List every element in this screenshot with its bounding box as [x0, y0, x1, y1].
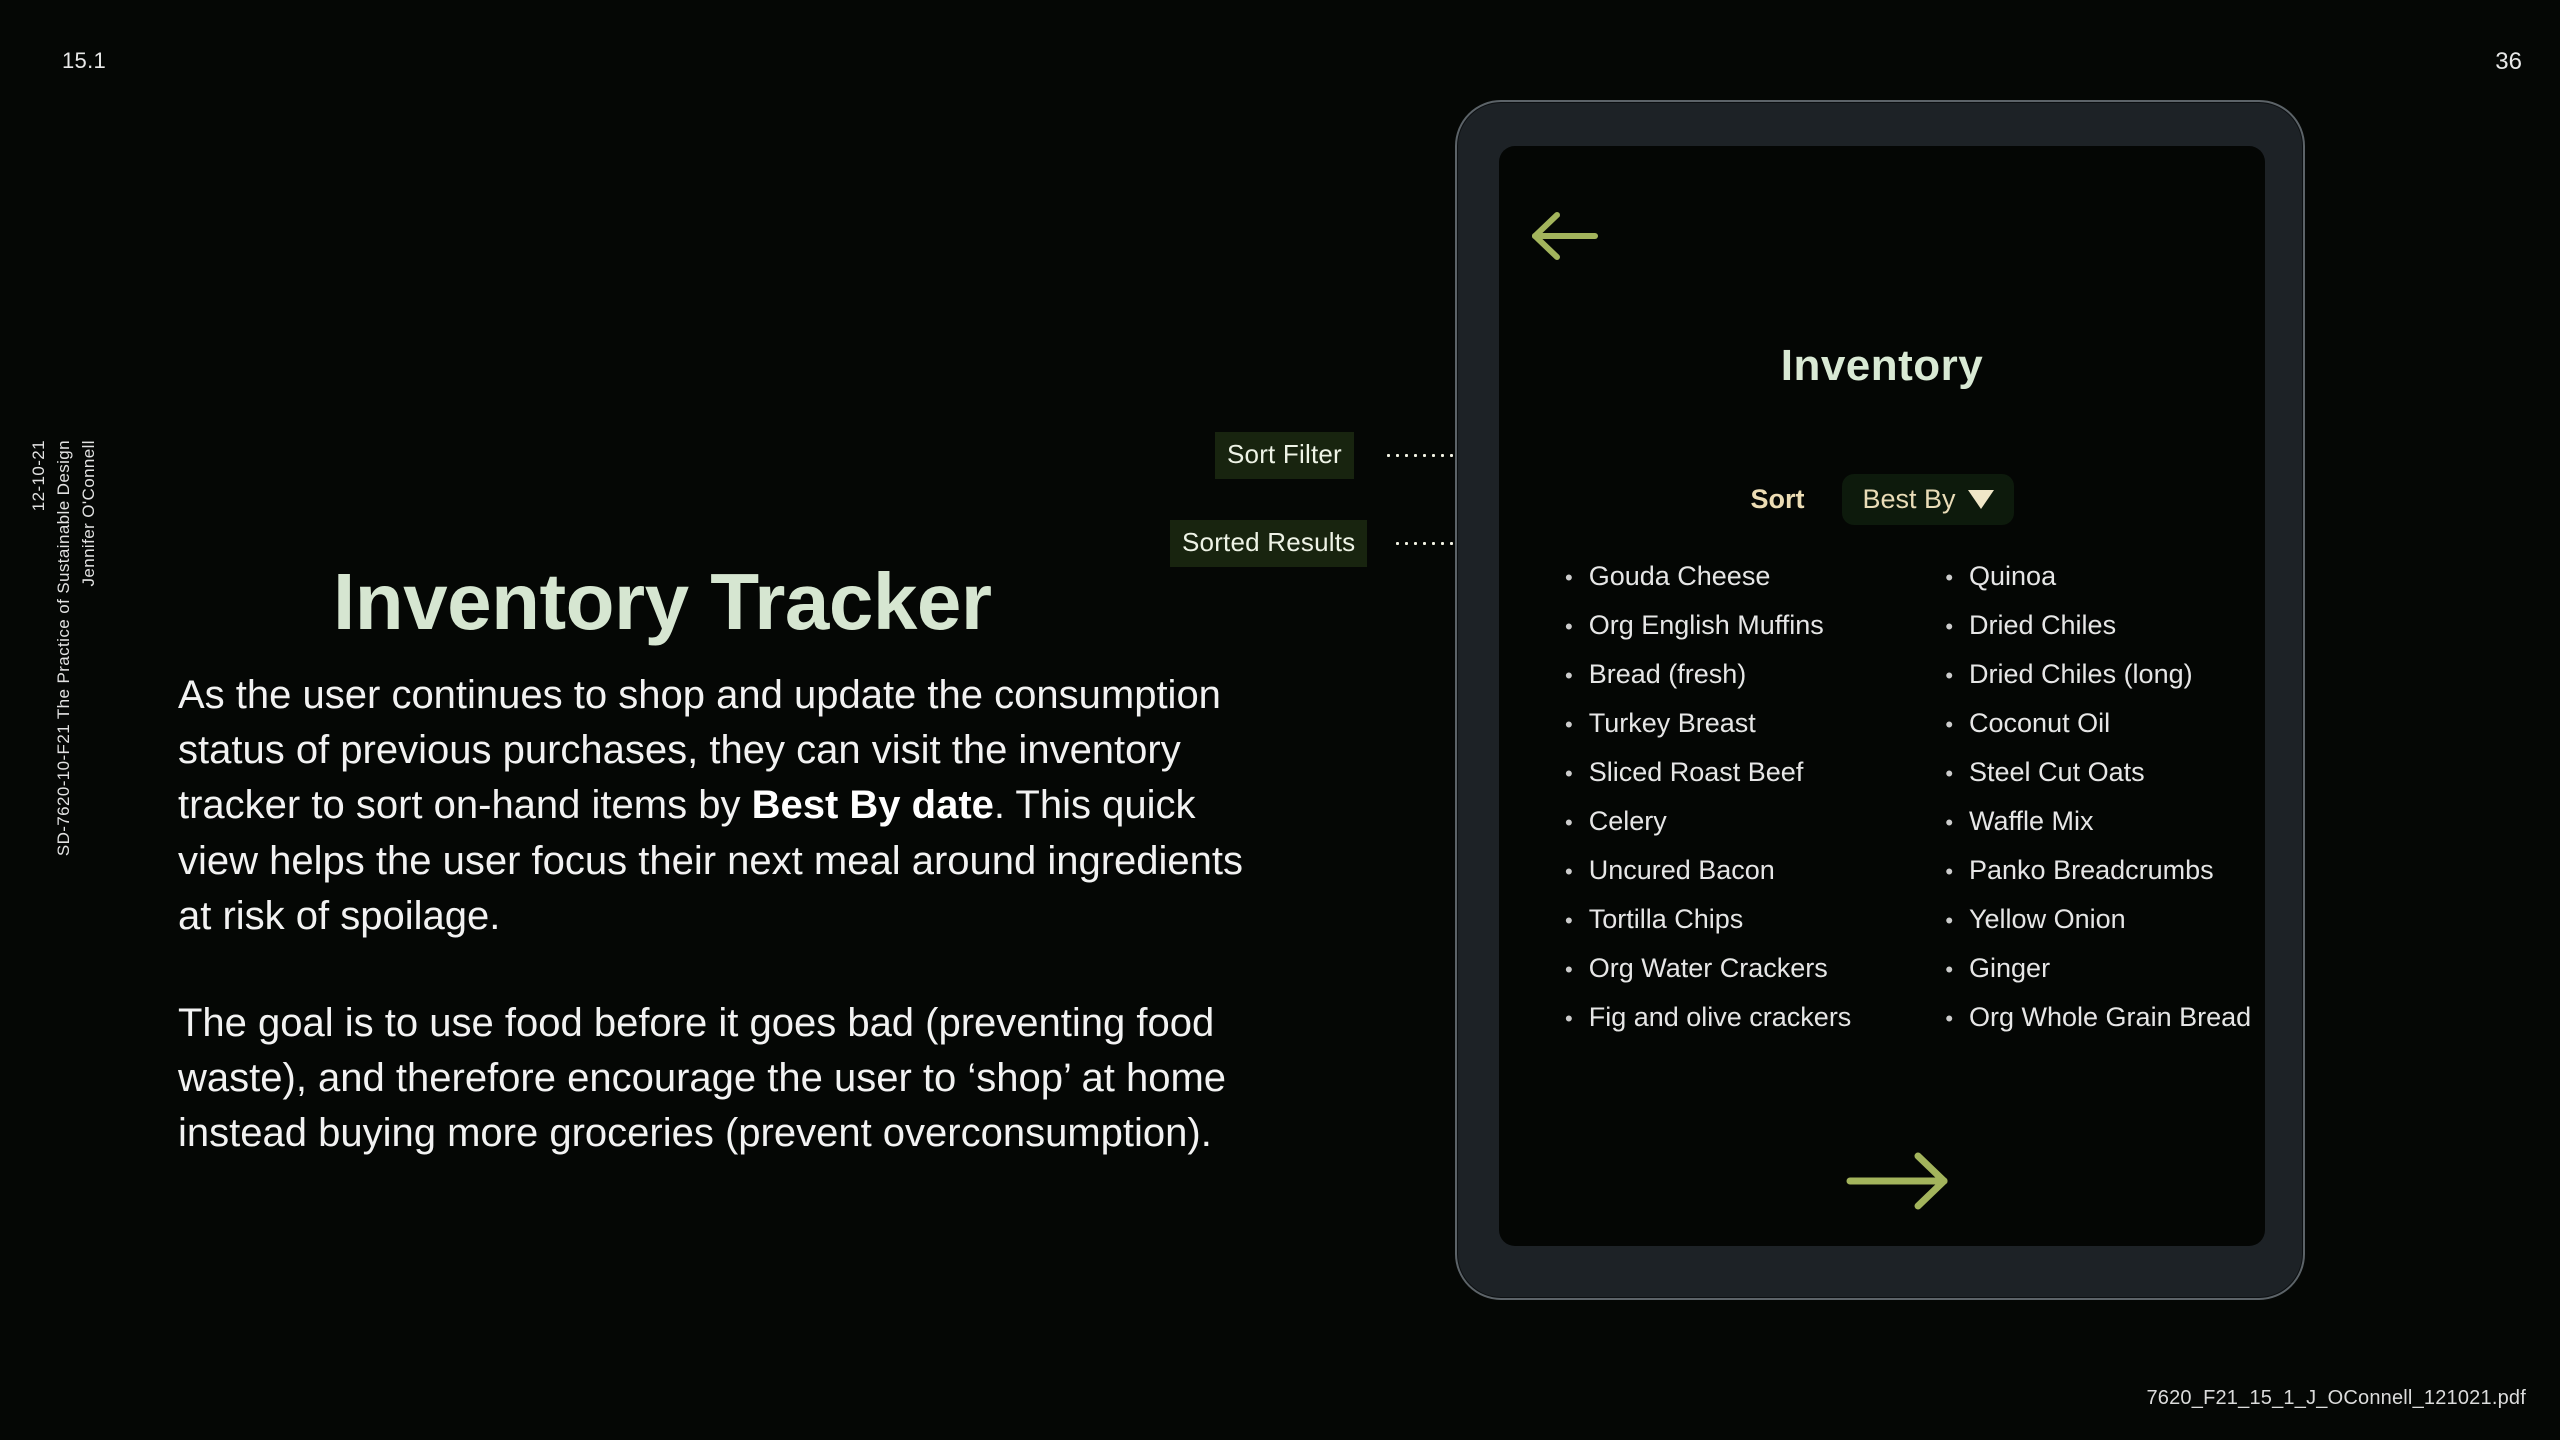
- bullet-icon: •: [1945, 959, 1953, 981]
- description-paragraph-2: The goal is to use food before it goes b…: [178, 996, 1268, 1162]
- list-item-label: Steel Cut Oats: [1969, 757, 2145, 788]
- bullet-icon: •: [1945, 861, 1953, 883]
- inventory-column-right: •Quinoa •Dried Chiles •Dried Chiles (lon…: [1941, 561, 2251, 1051]
- triangle-down-icon: [1968, 490, 1994, 509]
- list-item[interactable]: •Sliced Roast Beef: [1565, 757, 1851, 806]
- inventory-column-left: •Gouda Cheese •Org English Muffins •Brea…: [1565, 561, 1851, 1051]
- list-item[interactable]: •Dried Chiles (long): [1941, 659, 2251, 708]
- list-item[interactable]: •Fig and olive crackers: [1565, 1002, 1851, 1051]
- vertical-credit-block: Jennifer O'Connell SD-7620-10-F21 The Pr…: [28, 440, 101, 860]
- bullet-icon: •: [1945, 1008, 1953, 1030]
- list-item-label: Sliced Roast Beef: [1589, 757, 1804, 788]
- bullet-icon: •: [1565, 714, 1573, 736]
- credit-author: Jennifer O'Connell: [78, 440, 101, 587]
- page-number: 36: [2495, 48, 2522, 76]
- list-item-label: Yellow Onion: [1969, 904, 2126, 935]
- list-item-label: Quinoa: [1969, 561, 2056, 592]
- sort-by-dropdown[interactable]: Best By: [1842, 474, 2013, 525]
- bullet-icon: •: [1945, 616, 1953, 638]
- list-item-label: Gouda Cheese: [1589, 561, 1771, 592]
- annotation-label: Sort Filter: [1215, 432, 1354, 479]
- bullet-icon: •: [1565, 616, 1573, 638]
- bullet-icon: •: [1565, 763, 1573, 785]
- list-item-label: Org English Muffins: [1589, 610, 1824, 641]
- list-item-label: Bread (fresh): [1589, 659, 1747, 690]
- bullet-icon: •: [1945, 763, 1953, 785]
- list-item-label: Dried Chiles: [1969, 610, 2116, 641]
- bullet-icon: •: [1945, 665, 1953, 687]
- list-item[interactable]: •Panko Breadcrumbs: [1941, 855, 2251, 904]
- bullet-icon: •: [1565, 665, 1573, 687]
- list-item[interactable]: •Org Water Crackers: [1565, 953, 1851, 1002]
- bullet-icon: •: [1565, 1008, 1573, 1030]
- list-item[interactable]: •Coconut Oil: [1941, 708, 2251, 757]
- bullet-icon: •: [1565, 567, 1573, 589]
- list-item[interactable]: •Celery: [1565, 806, 1851, 855]
- list-item[interactable]: •Org Whole Grain Bread: [1941, 1002, 2251, 1051]
- list-item-label: Coconut Oil: [1969, 708, 2110, 739]
- slide-number: 15.1: [62, 48, 106, 74]
- left-text-column: Inventory Tracker As the user continues …: [178, 560, 1298, 1162]
- bullet-icon: •: [1565, 910, 1573, 932]
- sort-label: Sort: [1750, 484, 1804, 515]
- list-item-label: Fig and olive crackers: [1589, 1002, 1852, 1033]
- sort-controls-row: Sort Best By: [1499, 474, 2265, 525]
- list-item-label: Uncured Bacon: [1589, 855, 1775, 886]
- description-paragraph-1: As the user continues to shop and update…: [178, 668, 1268, 944]
- list-item[interactable]: •Tortilla Chips: [1565, 904, 1851, 953]
- list-item[interactable]: •Waffle Mix: [1941, 806, 2251, 855]
- list-item[interactable]: •Quinoa: [1941, 561, 2251, 610]
- list-item[interactable]: •Bread (fresh): [1565, 659, 1851, 708]
- list-item[interactable]: •Dried Chiles: [1941, 610, 2251, 659]
- slide-canvas: 15.1 36 7620_F21_15_1_J_OConnell_121021.…: [0, 0, 2560, 1440]
- bullet-icon: •: [1945, 910, 1953, 932]
- sort-dropdown-value: Best By: [1862, 484, 1955, 515]
- list-item[interactable]: •Uncured Bacon: [1565, 855, 1851, 904]
- arrow-left-icon[interactable]: [1529, 206, 1604, 266]
- arrow-right-icon[interactable]: [1844, 1146, 1954, 1216]
- bullet-icon: •: [1565, 861, 1573, 883]
- annotation-label: Sorted Results: [1170, 520, 1367, 567]
- list-item-label: Ginger: [1969, 953, 2050, 984]
- list-item-label: Tortilla Chips: [1589, 904, 1744, 935]
- bullet-icon: •: [1945, 812, 1953, 834]
- bullet-icon: •: [1565, 959, 1573, 981]
- credit-date: 12-10-21: [28, 440, 51, 511]
- list-item-label: Panko Breadcrumbs: [1969, 855, 2214, 886]
- tablet-device-frame: Inventory Sort Best By •Gouda Cheese •Or…: [1455, 100, 2305, 1300]
- list-item-label: Org Water Crackers: [1589, 953, 1828, 984]
- list-item[interactable]: •Org English Muffins: [1565, 610, 1851, 659]
- list-item[interactable]: •Gouda Cheese: [1565, 561, 1851, 610]
- list-item-label: Turkey Breast: [1589, 708, 1756, 739]
- file-name-footer: 7620_F21_15_1_J_OConnell_121021.pdf: [2146, 1387, 2526, 1410]
- page-title: Inventory Tracker: [333, 560, 1298, 644]
- list-item-label: Waffle Mix: [1969, 806, 2094, 837]
- bullet-icon: •: [1565, 812, 1573, 834]
- credit-course: SD-7620-10-F21 The Practice of Sustainab…: [53, 440, 76, 856]
- list-item-label: Dried Chiles (long): [1969, 659, 2193, 690]
- list-item[interactable]: •Turkey Breast: [1565, 708, 1851, 757]
- bullet-icon: •: [1945, 714, 1953, 736]
- list-item[interactable]: •Ginger: [1941, 953, 2251, 1002]
- inventory-screen-title: Inventory: [1499, 341, 2265, 391]
- list-item[interactable]: •Steel Cut Oats: [1941, 757, 2251, 806]
- list-item[interactable]: •Yellow Onion: [1941, 904, 2251, 953]
- bullet-icon: •: [1945, 567, 1953, 589]
- tablet-screen: Inventory Sort Best By •Gouda Cheese •Or…: [1499, 146, 2265, 1246]
- inventory-item-lists: •Gouda Cheese •Org English Muffins •Brea…: [1565, 561, 2221, 1051]
- list-item-label: Org Whole Grain Bread: [1969, 1002, 2251, 1033]
- list-item-label: Celery: [1589, 806, 1667, 837]
- paragraph-1-emphasis: Best By date: [752, 783, 994, 827]
